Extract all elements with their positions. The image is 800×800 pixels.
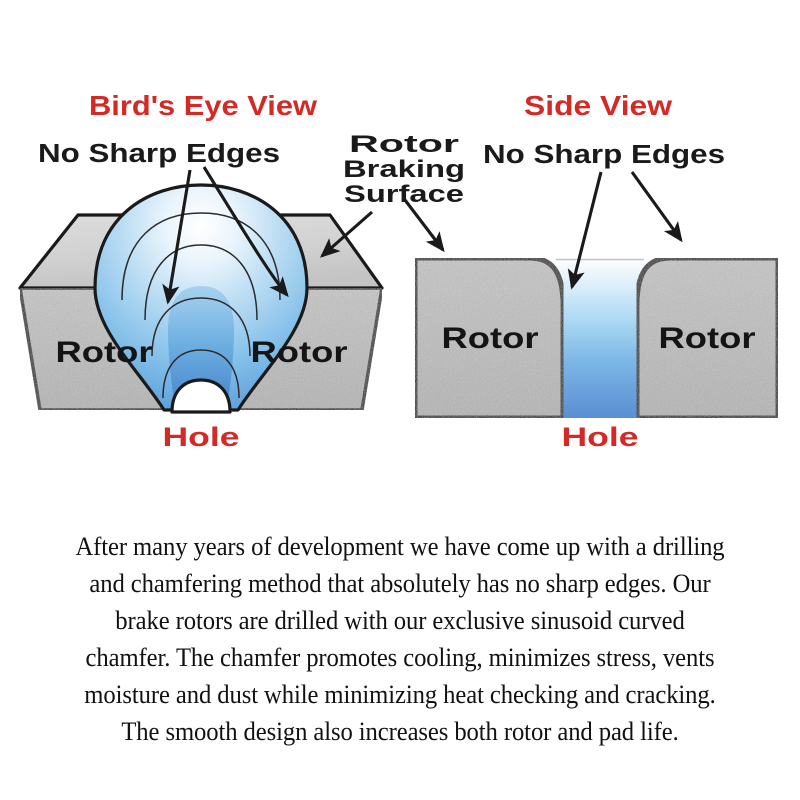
rotor-braking-surface-line-1: Rotor [349, 131, 460, 158]
birds-eye-rotor-left-label: Rotor [56, 336, 153, 369]
rotor-braking-surface-label: Rotor Braking Surface [343, 131, 465, 208]
side-view-no-sharp-edges-label: No Sharp Edges [483, 141, 725, 169]
birds-eye-no-sharp-edges-label: No Sharp Edges [38, 140, 280, 168]
caption-line: moisture and dust while minimizing heat … [35, 676, 764, 713]
rotor-braking-surface-line-2: Braking [343, 156, 465, 183]
side-view-group: Side View No Sharp Edges Rotor Rotor Hol… [405, 90, 778, 452]
caption-line: and chamfering method that absolutely ha… [35, 565, 764, 602]
side-view-rotor-right-label: Rotor [659, 322, 756, 355]
birds-eye-hole-label: Hole [163, 422, 240, 452]
birds-eye-view-title: Bird's Eye View [89, 90, 318, 121]
caption-line: chamfer. The chamfer promotes cooling, m… [35, 639, 764, 676]
caption-line: After many years of development we have … [35, 528, 764, 565]
side-view-rotor-left-label: Rotor [442, 322, 539, 355]
caption-line: The smooth design also increases both ro… [35, 713, 764, 750]
arrow-no-sharp-edges-right-side [632, 172, 681, 240]
side-view-title: Side View [524, 90, 673, 121]
rotor-chamfer-figure: Bird's Eye View No Sharp Edges Rotor Bra… [0, 0, 800, 470]
caption-line: brake rotors are drilled with our exclus… [35, 602, 764, 639]
side-view-hole-column [556, 258, 644, 418]
rotor-braking-surface-line-3: Surface [344, 181, 464, 208]
side-view-hole-label: Hole [562, 422, 639, 452]
birds-eye-view-group: Bird's Eye View No Sharp Edges Rotor Bra… [20, 90, 465, 452]
birds-eye-rotor-right-label: Rotor [251, 336, 348, 369]
caption-paragraph: After many years of development we have … [35, 528, 764, 750]
